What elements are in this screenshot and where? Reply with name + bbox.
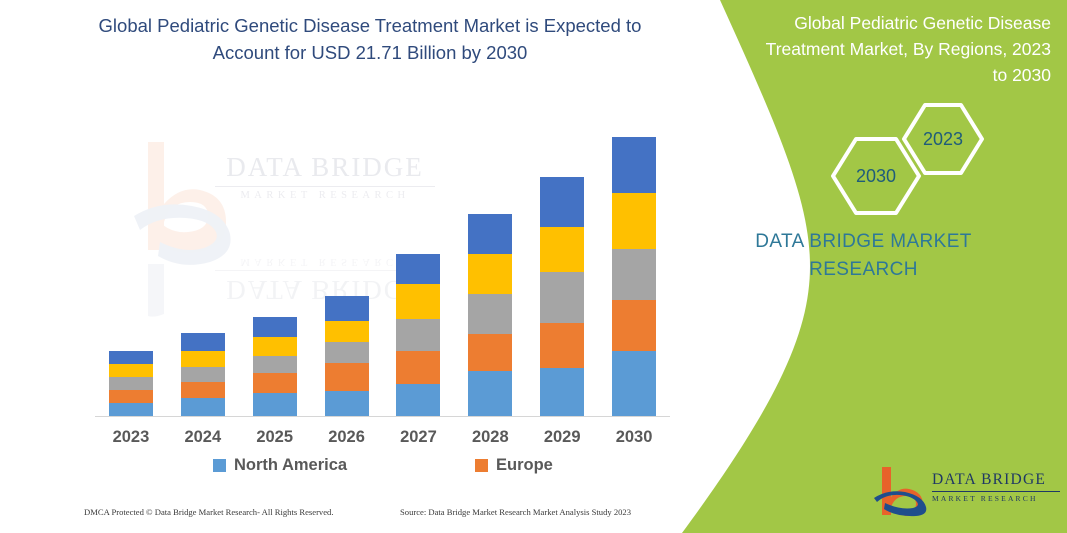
bar-segment [468,254,512,294]
right-green-panel: Global Pediatric Genetic Disease Treatme… [660,0,1067,533]
bar-segment [181,382,225,398]
hexagon-badge-2023: 2023 [900,101,986,177]
x-axis-label-2023: 2023 [95,428,167,447]
bar-segment [109,377,153,390]
bar-segment [325,391,369,416]
bar-segment [253,337,297,356]
bar-segment [396,254,440,284]
bar-segment [325,342,369,363]
bar-segment [253,317,297,337]
bar-segment [396,351,440,384]
infographic-canvas: Global Pediatric Genetic Disease Treatme… [0,0,1067,533]
green-panel-content: Global Pediatric Genetic Disease Treatme… [660,0,1067,533]
bar-segment [325,296,369,321]
bar-segment [612,351,656,416]
bar-segment [109,403,153,416]
dbmr-logo-tagline: MARKET RESEARCH [932,494,1062,503]
bar-segment [253,393,297,416]
bar-segment [109,364,153,377]
legend-label: Europe [496,456,553,475]
x-axis-label-2025: 2025 [239,428,311,447]
bar-segment [325,321,369,342]
bar-2024[interactable] [181,333,225,416]
bar-segment [468,294,512,334]
x-axis-line [95,416,670,417]
footer: DMCA Protected © Data Bridge Market Rese… [0,507,672,527]
hexagon-badges: 2030 2023 [660,96,1067,206]
hexagon-badge-2023-label: 2023 [923,129,963,150]
bar-2026[interactable] [325,296,369,416]
dbmr-logo-text: DATA BRIDGE MARKET RESEARCH [932,471,1062,503]
bar-2025[interactable] [253,317,297,416]
dbmr-logo: DATA BRIDGE MARKET RESEARCH [872,465,1062,521]
bar-segment [253,373,297,393]
footer-copyright: DMCA Protected © Data Bridge Market Rese… [84,507,334,517]
x-axis-label-2026: 2026 [311,428,383,447]
bar-2030[interactable] [612,137,656,416]
bar-2027[interactable] [396,254,440,416]
bar-segment [612,300,656,351]
bar-segment [468,334,512,371]
bar-segment [181,351,225,367]
bar-segment [325,363,369,391]
x-axis-label-2029: 2029 [526,428,598,447]
bar-segment [468,371,512,416]
dbmr-logo-name: DATA BRIDGE [932,471,1062,489]
bar-segment [109,351,153,364]
bar-segment [468,214,512,254]
bar-segment [396,284,440,319]
bar-segment [181,367,225,382]
bar-segment [612,249,656,300]
bar-segment [612,137,656,193]
dbmr-logo-mark-icon [872,465,928,517]
bar-2028[interactable] [468,214,512,416]
panel-brand-line1: DATA BRIDGE MARKET [660,228,1067,256]
hexagon-badge-2030-label: 2030 [856,166,896,187]
bar-segment [540,227,584,272]
legend-item-north-america[interactable]: North America [213,456,347,475]
legend-label: North America [234,456,347,475]
legend-swatch-icon [213,459,226,472]
panel-brand: DATA BRIDGE MARKET RESEARCH [660,228,1067,284]
bar-segment [612,193,656,249]
x-axis-label-2027: 2027 [382,428,454,447]
page-title: Global Pediatric Genetic Disease Treatme… [70,12,670,66]
footer-source: Source: Data Bridge Market Research Mark… [400,507,631,517]
panel-title: Global Pediatric Genetic Disease Treatme… [761,10,1051,88]
bar-segment [540,368,584,416]
bar-segment [540,272,584,323]
bar-segment [396,384,440,416]
x-axis-labels: 20232024202520262027202820292030 [95,428,670,454]
bar-segment [540,177,584,227]
bar-2023[interactable] [109,351,153,416]
bar-segment [109,390,153,403]
bar-segment [396,319,440,351]
bar-2029[interactable] [540,177,584,416]
legend-swatch-icon [475,459,488,472]
bar-segment [181,398,225,416]
bar-segment [253,356,297,373]
chart-legend: North AmericaEurope [95,456,670,480]
bar-segment [540,323,584,368]
bar-chart-plot [95,110,670,416]
legend-item-europe[interactable]: Europe [475,456,553,475]
x-axis-label-2024: 2024 [167,428,239,447]
dbmr-logo-rule [932,491,1060,492]
panel-brand-line2: RESEARCH [660,256,1067,284]
x-axis-label-2028: 2028 [454,428,526,447]
bar-segment [181,333,225,351]
